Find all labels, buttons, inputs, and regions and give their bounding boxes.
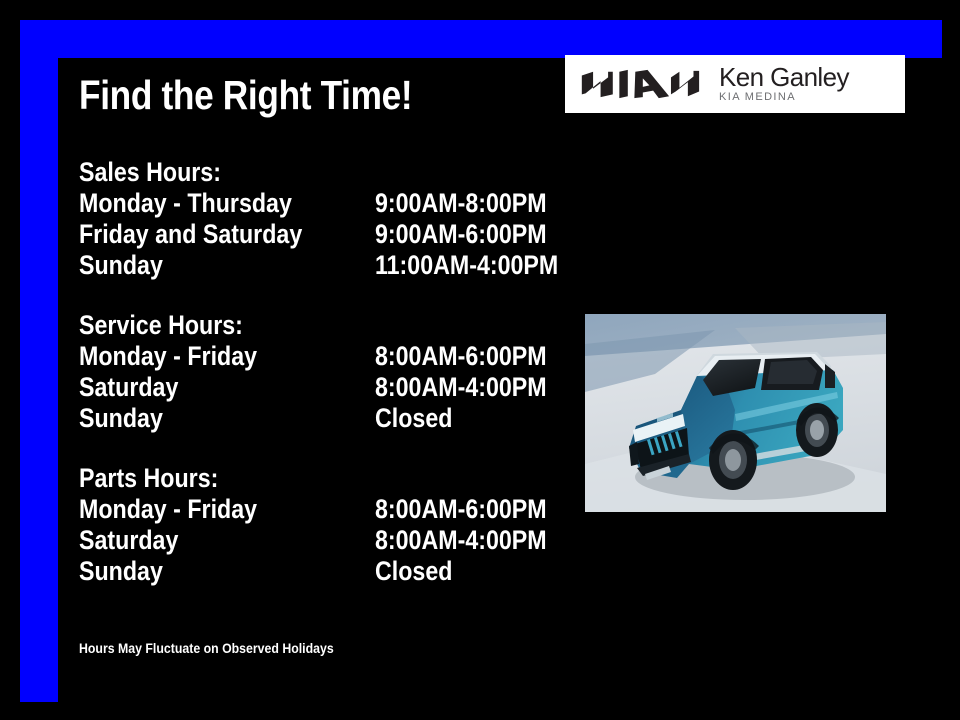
- kia-logo-icon: [579, 67, 701, 101]
- time-value: 9:00AM-6:00PM: [375, 219, 547, 250]
- hours-block-sales: Sales Hours: Monday - Thursday 9:00AM-8:…: [79, 157, 549, 281]
- dealer-name: Ken Ganley: [719, 64, 849, 91]
- dealer-location: KIA MEDINA: [719, 91, 849, 104]
- time-value: 8:00AM-4:00PM: [375, 525, 547, 556]
- day-label: Sunday: [79, 250, 334, 281]
- day-label: Friday and Saturday: [79, 219, 334, 250]
- day-label: Saturday: [79, 525, 334, 556]
- holiday-disclaimer: Hours May Fluctuate on Observed Holidays: [79, 640, 334, 656]
- hours-row: Monday - Thursday 9:00AM-8:00PM: [79, 188, 549, 219]
- time-value: 9:00AM-8:00PM: [375, 188, 547, 219]
- hours-row: Monday - Friday 8:00AM-6:00PM: [79, 494, 549, 525]
- hours-row: Friday and Saturday 9:00AM-6:00PM: [79, 219, 549, 250]
- day-label: Sunday: [79, 556, 334, 587]
- dealer-name-block: Ken Ganley KIA MEDINA: [719, 64, 849, 104]
- time-value: Closed: [375, 403, 452, 434]
- hours-block-parts: Parts Hours: Monday - Friday 8:00AM-6:00…: [79, 463, 549, 587]
- hours-sections: Sales Hours: Monday - Thursday 9:00AM-8:…: [79, 157, 549, 587]
- hours-row: Sunday 11:00AM-4:00PM: [79, 250, 549, 281]
- hours-row: Monday - Friday 8:00AM-6:00PM: [79, 341, 549, 372]
- hours-block-service: Service Hours: Monday - Friday 8:00AM-6:…: [79, 310, 549, 434]
- hours-row: Sunday Closed: [79, 556, 549, 587]
- slide-canvas: Find the Right Time! Sales Hours: Monday…: [0, 0, 960, 720]
- hours-row: Saturday 8:00AM-4:00PM: [79, 525, 549, 556]
- section-heading-parts: Parts Hours:: [79, 463, 483, 494]
- day-label: Monday - Friday: [79, 341, 334, 372]
- hours-row: Saturday 8:00AM-4:00PM: [79, 372, 549, 403]
- time-value: 8:00AM-6:00PM: [375, 494, 547, 525]
- page-title: Find the Right Time!: [79, 74, 412, 117]
- day-label: Saturday: [79, 372, 334, 403]
- hours-row: Sunday Closed: [79, 403, 549, 434]
- day-label: Monday - Thursday: [79, 188, 334, 219]
- section-heading-sales: Sales Hours:: [79, 157, 483, 188]
- time-value: 11:00AM-4:00PM: [375, 250, 558, 281]
- section-heading-service: Service Hours:: [79, 310, 483, 341]
- day-label: Sunday: [79, 403, 334, 434]
- time-value: Closed: [375, 556, 452, 587]
- day-label: Monday - Friday: [79, 494, 334, 525]
- time-value: 8:00AM-4:00PM: [375, 372, 547, 403]
- kia-ev9-suv-photo: [585, 314, 886, 512]
- dealer-logo: Ken Ganley KIA MEDINA: [565, 55, 905, 113]
- time-value: 8:00AM-6:00PM: [375, 341, 547, 372]
